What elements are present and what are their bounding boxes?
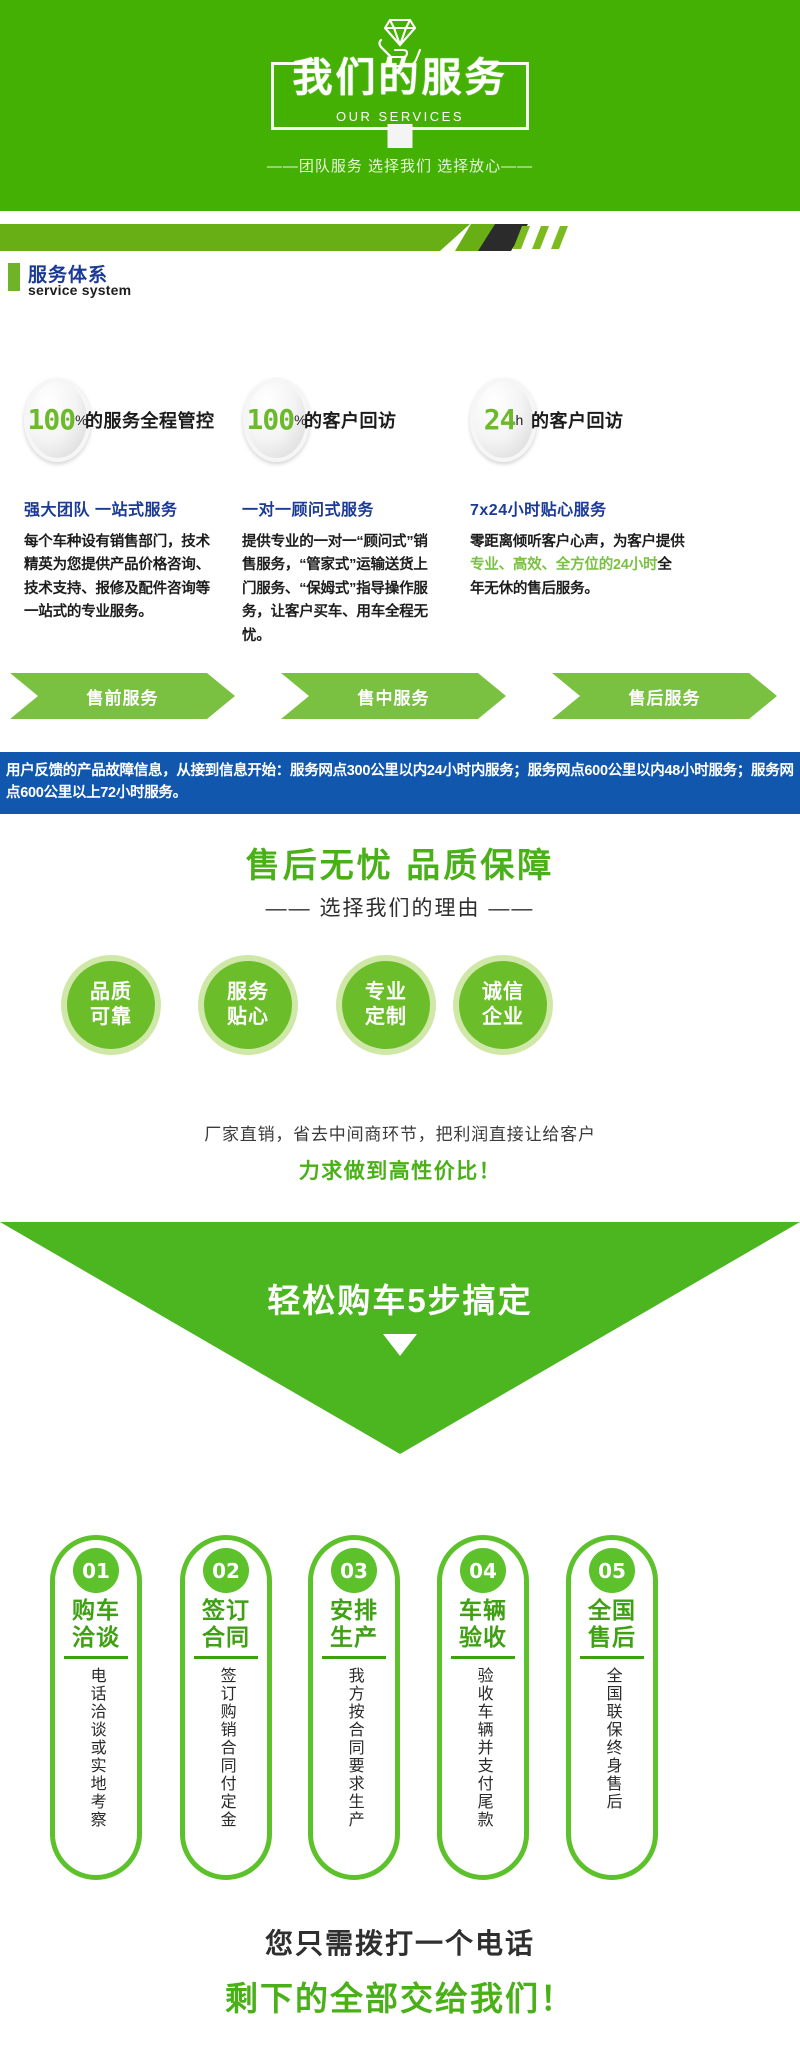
step-number: 04 [460,1548,506,1593]
step-description: 验收车辆并支付尾款 [473,1667,492,1875]
step-number: 01 [73,1548,119,1593]
title-notch [388,124,413,148]
reason-line-2: 定制 [365,1005,407,1030]
banner-chevron-2-icon [532,226,549,249]
purchase-step: 02 签订合同 签订购销合同付定金 [180,1535,272,1880]
feature-body: 每个车种设有销售部门，技术精英为您提供产品价格咨询、技术支持、报修及配件咨询等一… [24,531,214,625]
feature-body-pre: 零距离倾听客户心声，为客户提供 [470,534,685,550]
reason-circles: 品质 可靠 服务 贴心 专业 定制 诚信 企业 [0,955,800,1070]
page-title: 我们的服务 [293,58,508,98]
factory-direct-line: 厂家直销，省去中间商环节，把利润直接让给客户 [0,1120,800,1145]
footer-cta-line-1: 您只需拨打一个电话 [0,1922,800,1962]
step-title: 购车洽谈 [64,1597,128,1659]
badge-unit: h [515,412,523,428]
footer-cta-line-2: 剩下的全部交给我们！ [0,1972,800,2020]
step-title: 签订合同 [194,1597,258,1659]
banner-green-bar [0,224,470,251]
reason-line-2: 贴心 [227,1005,269,1030]
stage-arrow-aftersale[interactable]: 售后服务 [552,673,777,719]
service-system-banner: 服务体系 service system [0,224,800,304]
step-number: 03 [331,1548,377,1593]
purchase-banner-text: 轻松购车5步搞定 [0,1274,800,1322]
reason-circle: 诚信 企业 [453,955,553,1055]
feature-body: 零距离倾听客户心声，为客户提供专业、高效、全方位的24小时全年无休的售后服务。 [470,531,685,601]
step-number: 05 [589,1548,635,1593]
stage-arrow-presale[interactable]: 售前服务 [10,673,235,719]
reason-line-2: 可靠 [90,1005,132,1030]
badge-label: 的客户回访 [531,407,624,433]
reason-line-2: 企业 [482,1005,524,1030]
purchase-step: 04 车辆验收 验收车辆并支付尾款 [437,1535,529,1880]
badge-label: 的客户回访 [304,407,397,433]
badge-oval: 100% [243,378,310,462]
feature-heading: 7x24小时贴心服务 [470,496,685,520]
caret-down-icon [383,1334,417,1356]
badge-item: 100% 的服务全程管控 [24,378,215,462]
reason-circle: 品质 可靠 [61,955,161,1055]
reason-circle: 专业 定制 [336,955,436,1055]
feature-body-highlight-2: 24小时 [613,557,657,573]
step-description: 电话洽谈或实地考察 [86,1667,105,1875]
section-tick-marker [8,263,20,291]
stage-arrow-midsale[interactable]: 售中服务 [281,673,506,719]
step-title: 安排生产 [322,1597,386,1659]
page-subtitle: OUR SERVICES [336,109,464,124]
feature-body-highlight-1: 专业、高效、全方位的 [470,557,613,573]
step-title: 全国售后 [580,1597,644,1659]
step-description: 我方按合同要求生产 [344,1667,363,1875]
service-stage-arrows: 售前服务 售中服务 售后服务 [0,673,800,719]
purchase-banner: 轻松购车5步搞定 [0,1222,800,1454]
reason-line-1: 品质 [90,980,132,1005]
reason-line-1: 专业 [365,980,407,1005]
badge-number: 100 [246,406,294,434]
banner-chevron-3-icon [551,226,568,249]
badge-oval: 24h [470,378,537,462]
badge-row: 100% 的服务全程管控 100% 的客户回访 24h 的客户回访 [0,378,800,468]
feature-column: 7x24小时贴心服务 零距离倾听客户心声，为客户提供专业、高效、全方位的24小时… [470,496,685,601]
purchase-steps: 01 购车洽谈 电话洽谈或实地考察 02 签订合同 签订购销合同付定金 03 安… [0,1535,800,1905]
step-number: 02 [203,1548,249,1593]
badge-label: 的服务全程管控 [85,407,215,433]
hero-banner: 我们的服务 OUR SERVICES ——团队服务 选择我们 选择放心—— [0,0,800,211]
reason-line-1: 诚信 [482,980,524,1005]
feature-heading: 一对一顾问式服务 [242,496,438,520]
badge-item: 100% 的客户回访 [243,378,397,462]
badge-item: 24h 的客户回访 [470,378,624,462]
step-description: 签订购销合同付定金 [216,1667,235,1875]
value-for-money-line: 力求做到高性价比！ [0,1155,800,1185]
badge-number: 24 [484,406,516,434]
badge-oval: 100% [24,378,91,462]
hero-tagline: ——团队服务 选择我们 选择放心—— [267,155,533,176]
purchase-step: 03 安排生产 我方按合同要求生产 [308,1535,400,1880]
feature-column: 一对一顾问式服务 提供专业的一对一“顾问式”销售服务，“管家式”运输送货上门服务… [242,496,438,648]
section-title-en: service system [28,282,131,298]
purchase-step: 05 全国售后 全国联保终身售后 [566,1535,658,1880]
step-description: 全国联保终身售后 [602,1667,621,1875]
purchase-step: 01 购车洽谈 电话洽谈或实地考察 [50,1535,142,1880]
service-notice-bar: 用户反馈的产品故障信息，从接到信息开始：服务网点300公里以内24小时内服务；服… [0,752,800,814]
reason-line-1: 服务 [227,980,269,1005]
reasons-title: 售后无忧 品质保障 [0,838,800,887]
step-title: 车辆验收 [451,1597,515,1659]
feature-body: 提供专业的一对一“顾问式”销售服务，“管家式”运输送货上门服务、“保姆式”指导操… [242,531,438,648]
reason-circle: 服务 贴心 [198,955,298,1055]
reasons-subtitle: —— 选择我们的理由 —— [0,892,800,922]
feature-column: 强大团队 一站式服务 每个车种设有销售部门，技术精英为您提供产品价格咨询、技术支… [24,496,214,625]
feature-heading: 强大团队 一站式服务 [24,496,214,520]
badge-number: 100 [27,406,75,434]
